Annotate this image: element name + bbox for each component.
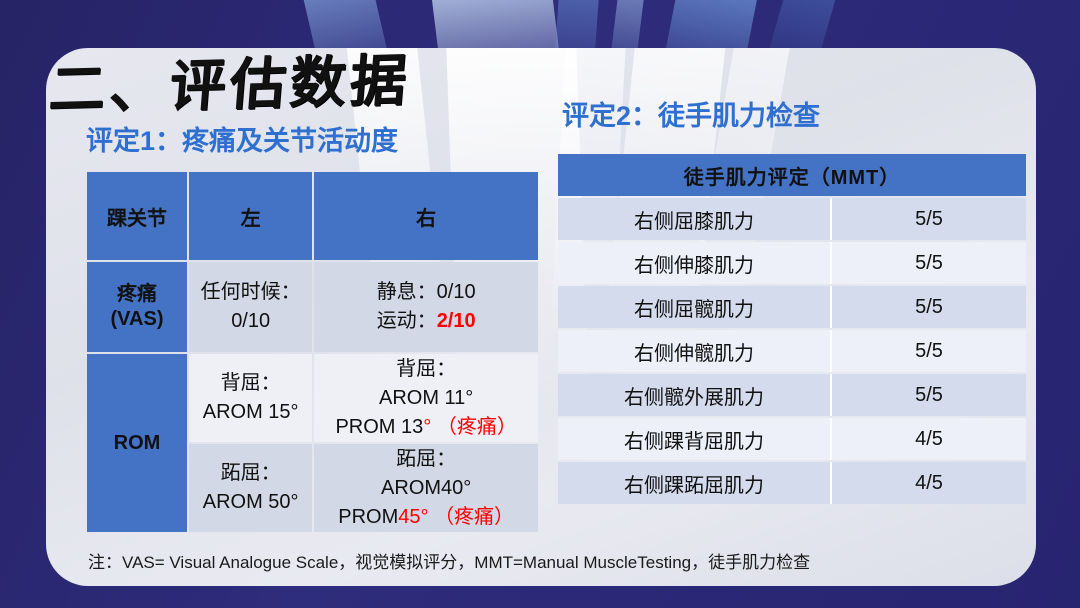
row-label-pain-vas: 疼痛 (VAS) xyxy=(87,262,187,352)
rom-dorsi-right-line3: PROM 13° （疼痛） xyxy=(314,413,538,442)
mmt-muscle-name: 右侧屈髋肌力 xyxy=(558,286,832,328)
pain-right-motion-value: 2/10 xyxy=(437,310,476,332)
mmt-grade-value: 5/5 xyxy=(832,242,1026,284)
mmt-muscle-name: 右侧踝跖屈肌力 xyxy=(558,462,832,504)
rom-dorsi-left-line1: 背屈： xyxy=(189,369,312,398)
rom-plantar-pain-note: （疼痛） xyxy=(434,506,514,528)
rom-dorsi-prom-value: PROM 13 xyxy=(335,416,423,438)
header-cell-left: 左 xyxy=(189,172,312,260)
table-row: 右侧伸髋肌力 5/5 xyxy=(558,330,1026,372)
table-header-row: 踝关节 左 右 xyxy=(87,172,538,260)
mmt-grade-value: 4/5 xyxy=(832,462,1026,504)
rom-plantar-right-line2: AROM40° xyxy=(314,474,538,503)
cell-rom-dorsi-right: 背屈： AROM 11° PROM 13° （疼痛） xyxy=(314,354,538,442)
rom-dorsi-pain-note: （疼痛） xyxy=(437,416,517,438)
mmt-header-row: 徒手肌力评定（MMT） xyxy=(558,154,1026,196)
mmt-table: 徒手肌力评定（MMT） 右侧屈膝肌力 5/5 右侧伸膝肌力 5/5 右侧屈髋肌力… xyxy=(558,152,1026,506)
rom-dorsi-right-line2: AROM 11° xyxy=(314,384,538,413)
rom-pain-table: 踝关节 左 右 疼痛 (VAS) 任何时候： 0/10 静息：0/10 运动：2… xyxy=(85,170,540,534)
pain-right-motion-label: 运动： xyxy=(377,310,437,332)
mmt-grade-value: 5/5 xyxy=(832,330,1026,372)
rom-dorsi-right-line1: 背屈： xyxy=(314,355,538,384)
mmt-grade-value: 5/5 xyxy=(832,198,1026,240)
pain-label-line1: 疼痛 xyxy=(87,282,187,307)
rom-dorsi-left-line2: AROM 15° xyxy=(189,398,312,427)
mmt-muscle-name: 右侧髋外展肌力 xyxy=(558,374,832,416)
mmt-muscle-name: 右侧伸膝肌力 xyxy=(558,242,832,284)
pain-label-line2: (VAS) xyxy=(87,307,187,332)
mmt-grade-value: 5/5 xyxy=(832,374,1026,416)
rom-plantar-prom-label: PROM xyxy=(338,506,398,528)
rom-plantar-left-line2: AROM 50° xyxy=(189,488,312,517)
rom-plantar-right-line3: PROM45° （疼痛） xyxy=(314,503,538,532)
footnote: 注：VAS= Visual Analogue Scale，视觉模拟评分，MMT=… xyxy=(88,548,810,573)
row-label-rom: ROM xyxy=(87,354,187,532)
table-row: 右侧髋外展肌力 5/5 xyxy=(558,374,1026,416)
cell-rom-plantar-right: 跖屈： AROM40° PROM45° （疼痛） xyxy=(314,444,538,532)
header-cell-right: 右 xyxy=(314,172,538,260)
table-row: 右侧伸膝肌力 5/5 xyxy=(558,242,1026,284)
mmt-muscle-name: 右侧伸髋肌力 xyxy=(558,330,832,372)
table-row: 右侧屈膝肌力 5/5 xyxy=(558,198,1026,240)
rom-plantar-prom-value: 45° xyxy=(398,506,428,528)
pain-right-line1: 静息：0/10 xyxy=(314,278,538,307)
rom-plantar-right-line1: 跖屈： xyxy=(314,445,538,474)
pain-left-line2: 0/10 xyxy=(189,307,312,336)
rom-dorsi-prom-degree: ° xyxy=(423,416,431,438)
cell-rom-plantar-left: 跖屈： AROM 50° xyxy=(189,444,312,532)
section-title: 二、评估数据 xyxy=(46,35,413,125)
table-row: 右侧踝跖屈肌力 4/5 xyxy=(558,462,1026,504)
table-row: 右侧屈髋肌力 5/5 xyxy=(558,286,1026,328)
pain-right-line2: 运动：2/10 xyxy=(314,307,538,336)
mmt-grade-value: 5/5 xyxy=(832,286,1026,328)
mmt-muscle-name: 右侧屈膝肌力 xyxy=(558,198,832,240)
subtitle-assessment-1: 评定1：疼痛及关节活动度 xyxy=(86,119,398,158)
cell-rom-dorsi-left: 背屈： AROM 15° xyxy=(189,354,312,442)
mmt-header-cell: 徒手肌力评定（MMT） xyxy=(558,154,1026,196)
pain-left-line1: 任何时候： xyxy=(189,278,312,307)
header-cell-joint: 踝关节 xyxy=(87,172,187,260)
table-row: 右侧踝背屈肌力 4/5 xyxy=(558,418,1026,460)
mmt-muscle-name: 右侧踝背屈肌力 xyxy=(558,418,832,460)
rom-plantar-left-line1: 跖屈： xyxy=(189,459,312,488)
cell-pain-right: 静息：0/10 运动：2/10 xyxy=(314,262,538,352)
cell-pain-left: 任何时候： 0/10 xyxy=(189,262,312,352)
mmt-grade-value: 4/5 xyxy=(832,418,1026,460)
subtitle-assessment-2: 评定2：徒手肌力检查 xyxy=(562,94,820,133)
table-row-pain-vas: 疼痛 (VAS) 任何时候： 0/10 静息：0/10 运动：2/10 xyxy=(87,262,538,352)
table-row-rom-dorsiflexion: ROM 背屈： AROM 15° 背屈： AROM 11° PROM 13° （… xyxy=(87,354,538,442)
slide-root: 二、评估数据 评定1：疼痛及关节活动度 评定2：徒手肌力检查 踝关节 左 右 疼… xyxy=(0,0,1080,608)
